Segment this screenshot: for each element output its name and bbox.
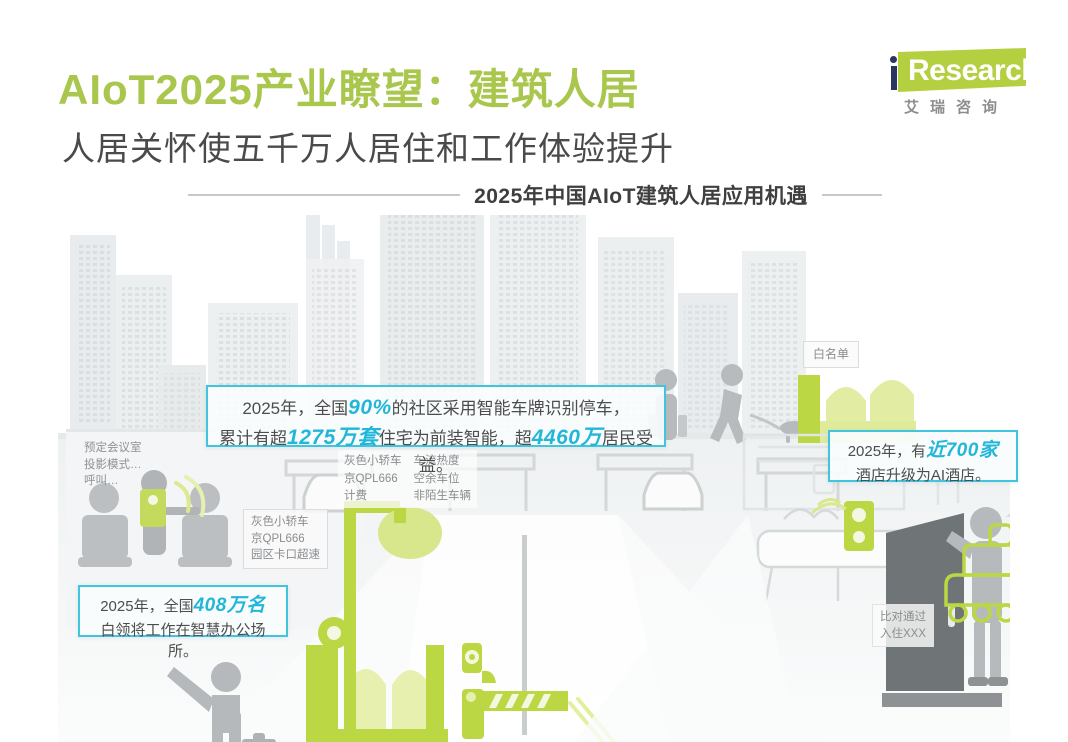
callout-hotel-line1: 2025年，有近700家 bbox=[838, 437, 1008, 465]
logo-i-dot-icon bbox=[890, 56, 897, 63]
callout-office-line2: 白领将工作在智慧办公场所。 bbox=[88, 620, 278, 664]
section-heading: 2025年中国AIoT建筑人居应用机遇 bbox=[130, 178, 940, 212]
callout-main-line1: 2025年，全国90%的社区采用智能车牌识别停车， bbox=[218, 393, 654, 423]
logo-wordmark: Research bbox=[908, 54, 1039, 88]
callout-main-l2b: 住宅为前装智能，超 bbox=[379, 429, 532, 448]
slide-page: AIoT2025产业瞭望：建筑人居 人居关怀使五千万人居住和工作体验提升 Res… bbox=[0, 0, 1068, 742]
label-vehicle-speeding: 灰色小轿车 京QPL666 园区卡口超速 bbox=[243, 509, 328, 569]
callout-office-line1: 2025年，全国408万名 bbox=[88, 592, 278, 620]
callout-office-l1a: 2025年，全国 bbox=[100, 598, 193, 615]
callout-main-stat-1275: 1275万套 bbox=[287, 426, 379, 449]
callout-main-stat-4460: 4460万 bbox=[532, 426, 602, 449]
callout-ai-hotel: 2025年，有近700家 酒店升级为AI酒店。 bbox=[828, 430, 1018, 482]
callout-hotel-line2: 酒店升级为AI酒店。 bbox=[838, 465, 1008, 487]
logo-i-stem-icon bbox=[891, 66, 897, 90]
page-title: AIoT2025产业瞭望：建筑人居 bbox=[58, 56, 640, 117]
page-subtitle: 人居关怀使五千万人居住和工作体验提升 bbox=[62, 122, 674, 170]
callout-hotel-stat-700: 近700家 bbox=[926, 440, 998, 461]
label-whitelist: 白名单 bbox=[803, 341, 859, 368]
traffic-col2-row3: 非陌生车辆 bbox=[414, 488, 472, 505]
iresearch-logo: Research 艾瑞咨询 bbox=[876, 48, 1028, 120]
label-meeting-room: 预定会议室 投影模式… 呼叫… bbox=[84, 440, 142, 490]
callout-main-l1b: 的社区采用智能车牌识别停车， bbox=[392, 399, 630, 418]
callout-smart-office: 2025年，全国408万名 白领将工作在智慧办公场所。 bbox=[78, 585, 288, 637]
callout-main-stat-90: 90% bbox=[348, 396, 392, 419]
logo-chinese-name: 艾瑞咨询 bbox=[904, 96, 1008, 117]
traffic-col1-row3: 计费 bbox=[344, 488, 402, 505]
label-checkin-verified: 比对通过 入住XXX bbox=[872, 604, 934, 647]
callout-community-parking: 2025年，全国90%的社区采用智能车牌识别停车， 累计有超1275万套住宅为前… bbox=[206, 385, 666, 447]
callout-office-stat-408: 408万名 bbox=[194, 595, 266, 616]
callout-main-l2a: 累计有超 bbox=[219, 429, 287, 448]
callout-main-l1a: 2025年，全国 bbox=[242, 399, 348, 418]
section-title: 2025年中国AIoT建筑人居应用机遇 bbox=[474, 180, 808, 210]
divider-left bbox=[188, 194, 460, 196]
divider-right bbox=[822, 194, 882, 196]
callout-main-line2: 累计有超1275万套住宅为前装智能，超4460万居民受益。 bbox=[218, 423, 654, 478]
callout-hotel-l1a: 2025年，有 bbox=[848, 443, 926, 460]
